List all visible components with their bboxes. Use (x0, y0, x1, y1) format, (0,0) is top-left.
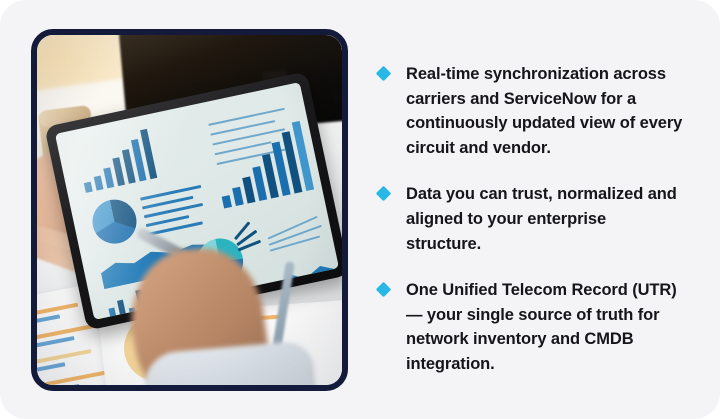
photo-frame (31, 29, 348, 391)
list-item: Data you can trust, normalized and align… (378, 182, 690, 256)
bullet-text-trusted-data: Data you can trust, normalized and align… (406, 182, 684, 256)
list-item: One Unified Telecom Record (UTR) — your … (378, 278, 690, 376)
list-item: Real-time synchronization across carrier… (378, 62, 690, 160)
feature-card: Real-time synchronization across carrier… (0, 0, 720, 419)
diamond-bullet-icon (376, 186, 392, 202)
analytics-tablet-photo (37, 35, 342, 385)
diamond-bullet-icon (376, 282, 392, 298)
diamond-bullet-icon (376, 66, 392, 82)
bullet-text-unified-telecom-record: One Unified Telecom Record (UTR) — your … (406, 278, 684, 376)
feature-bullet-list: Real-time synchronization across carrier… (378, 62, 690, 377)
bullet-text-real-time-sync: Real-time synchronization across carrier… (406, 62, 684, 160)
